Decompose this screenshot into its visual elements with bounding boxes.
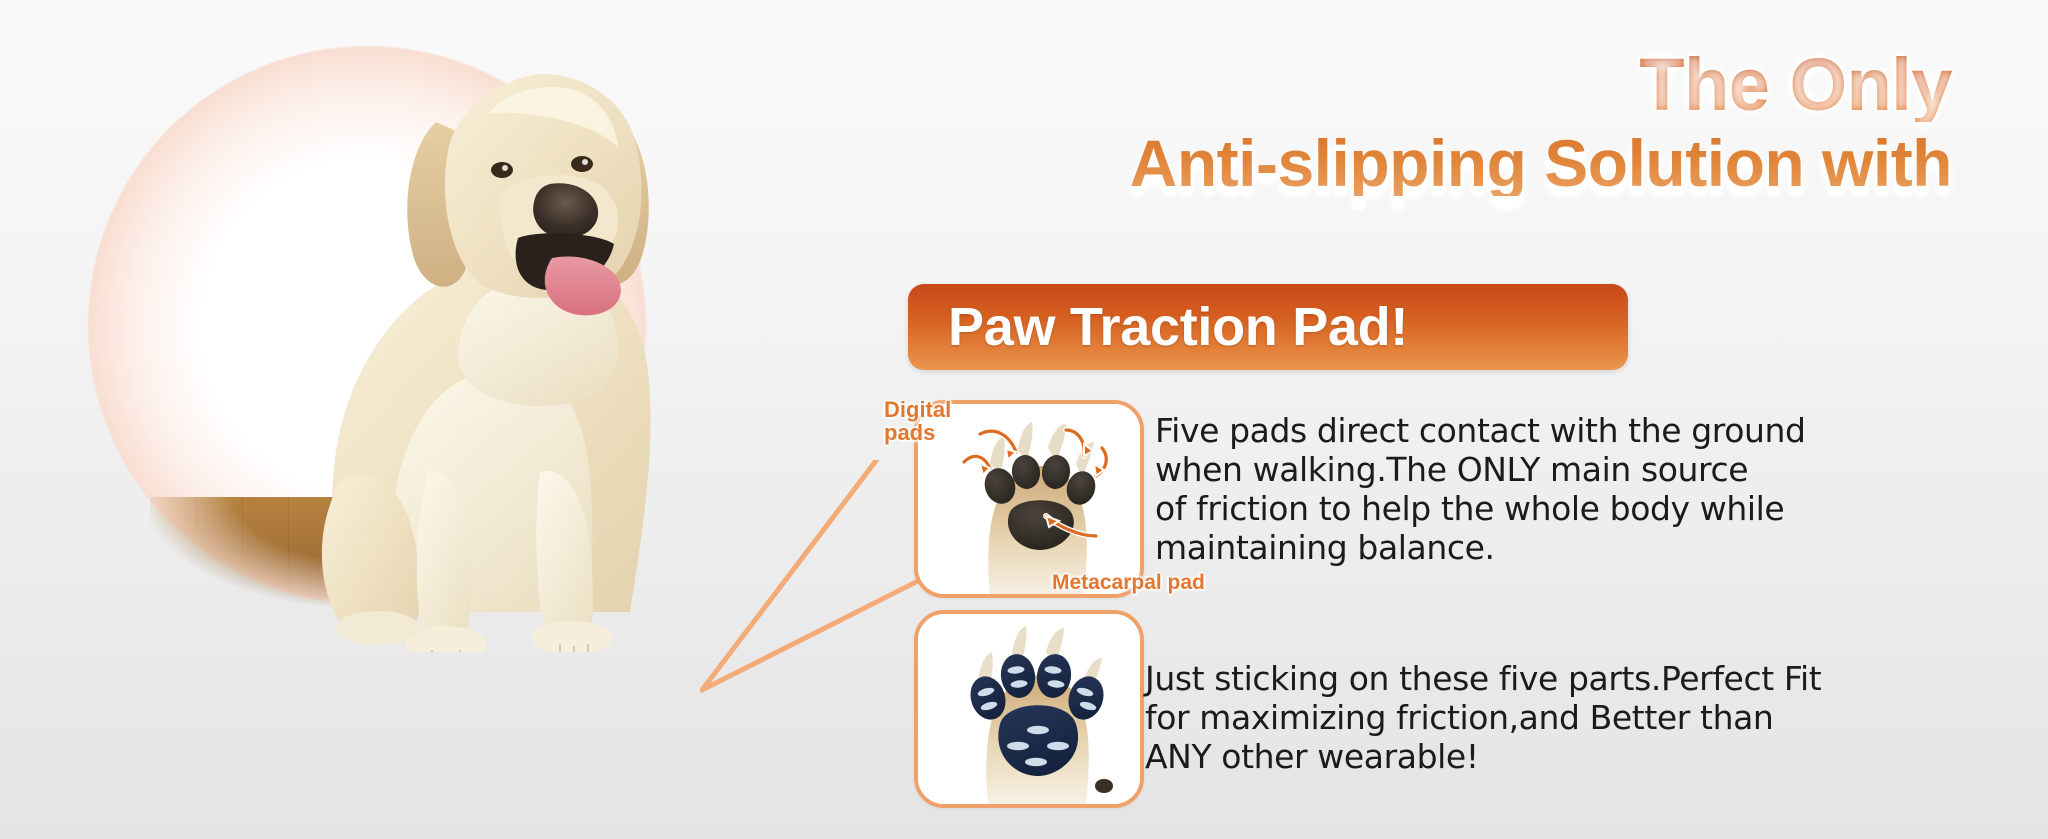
headline-line2-text: Anti-slipping Solution with <box>632 130 1952 196</box>
product-card[interactable] <box>914 610 1144 808</box>
label-metacarpal-pad: Metacarpal pad <box>1052 572 1205 594</box>
paragraph-anatomy: Five pads direct contact with the ground… <box>1155 412 1915 568</box>
headline-line1-text: The Only <box>632 48 1952 122</box>
banner-stage: The Only The Only Anti-slipping Solution… <box>0 0 2048 839</box>
paw-anatomy-illustration <box>918 404 1140 594</box>
banner-label: Paw Traction Pad! <box>908 296 1408 358</box>
headline-line1: The Only The Only <box>632 48 1952 122</box>
dog-photo <box>200 52 670 652</box>
paw-with-traction-pads-illustration <box>918 614 1140 804</box>
paragraph-product: Just sticking on these five parts.Perfec… <box>1145 660 1925 777</box>
paw-traction-pad-banner: Paw Traction Pad! <box>908 284 1628 370</box>
headline-block: The Only The Only Anti-slipping Solution… <box>632 48 1952 196</box>
headline-line2: Anti-slipping Solution with Anti-slippin… <box>632 130 1952 196</box>
label-digital-pads: Digital pads <box>884 398 951 445</box>
